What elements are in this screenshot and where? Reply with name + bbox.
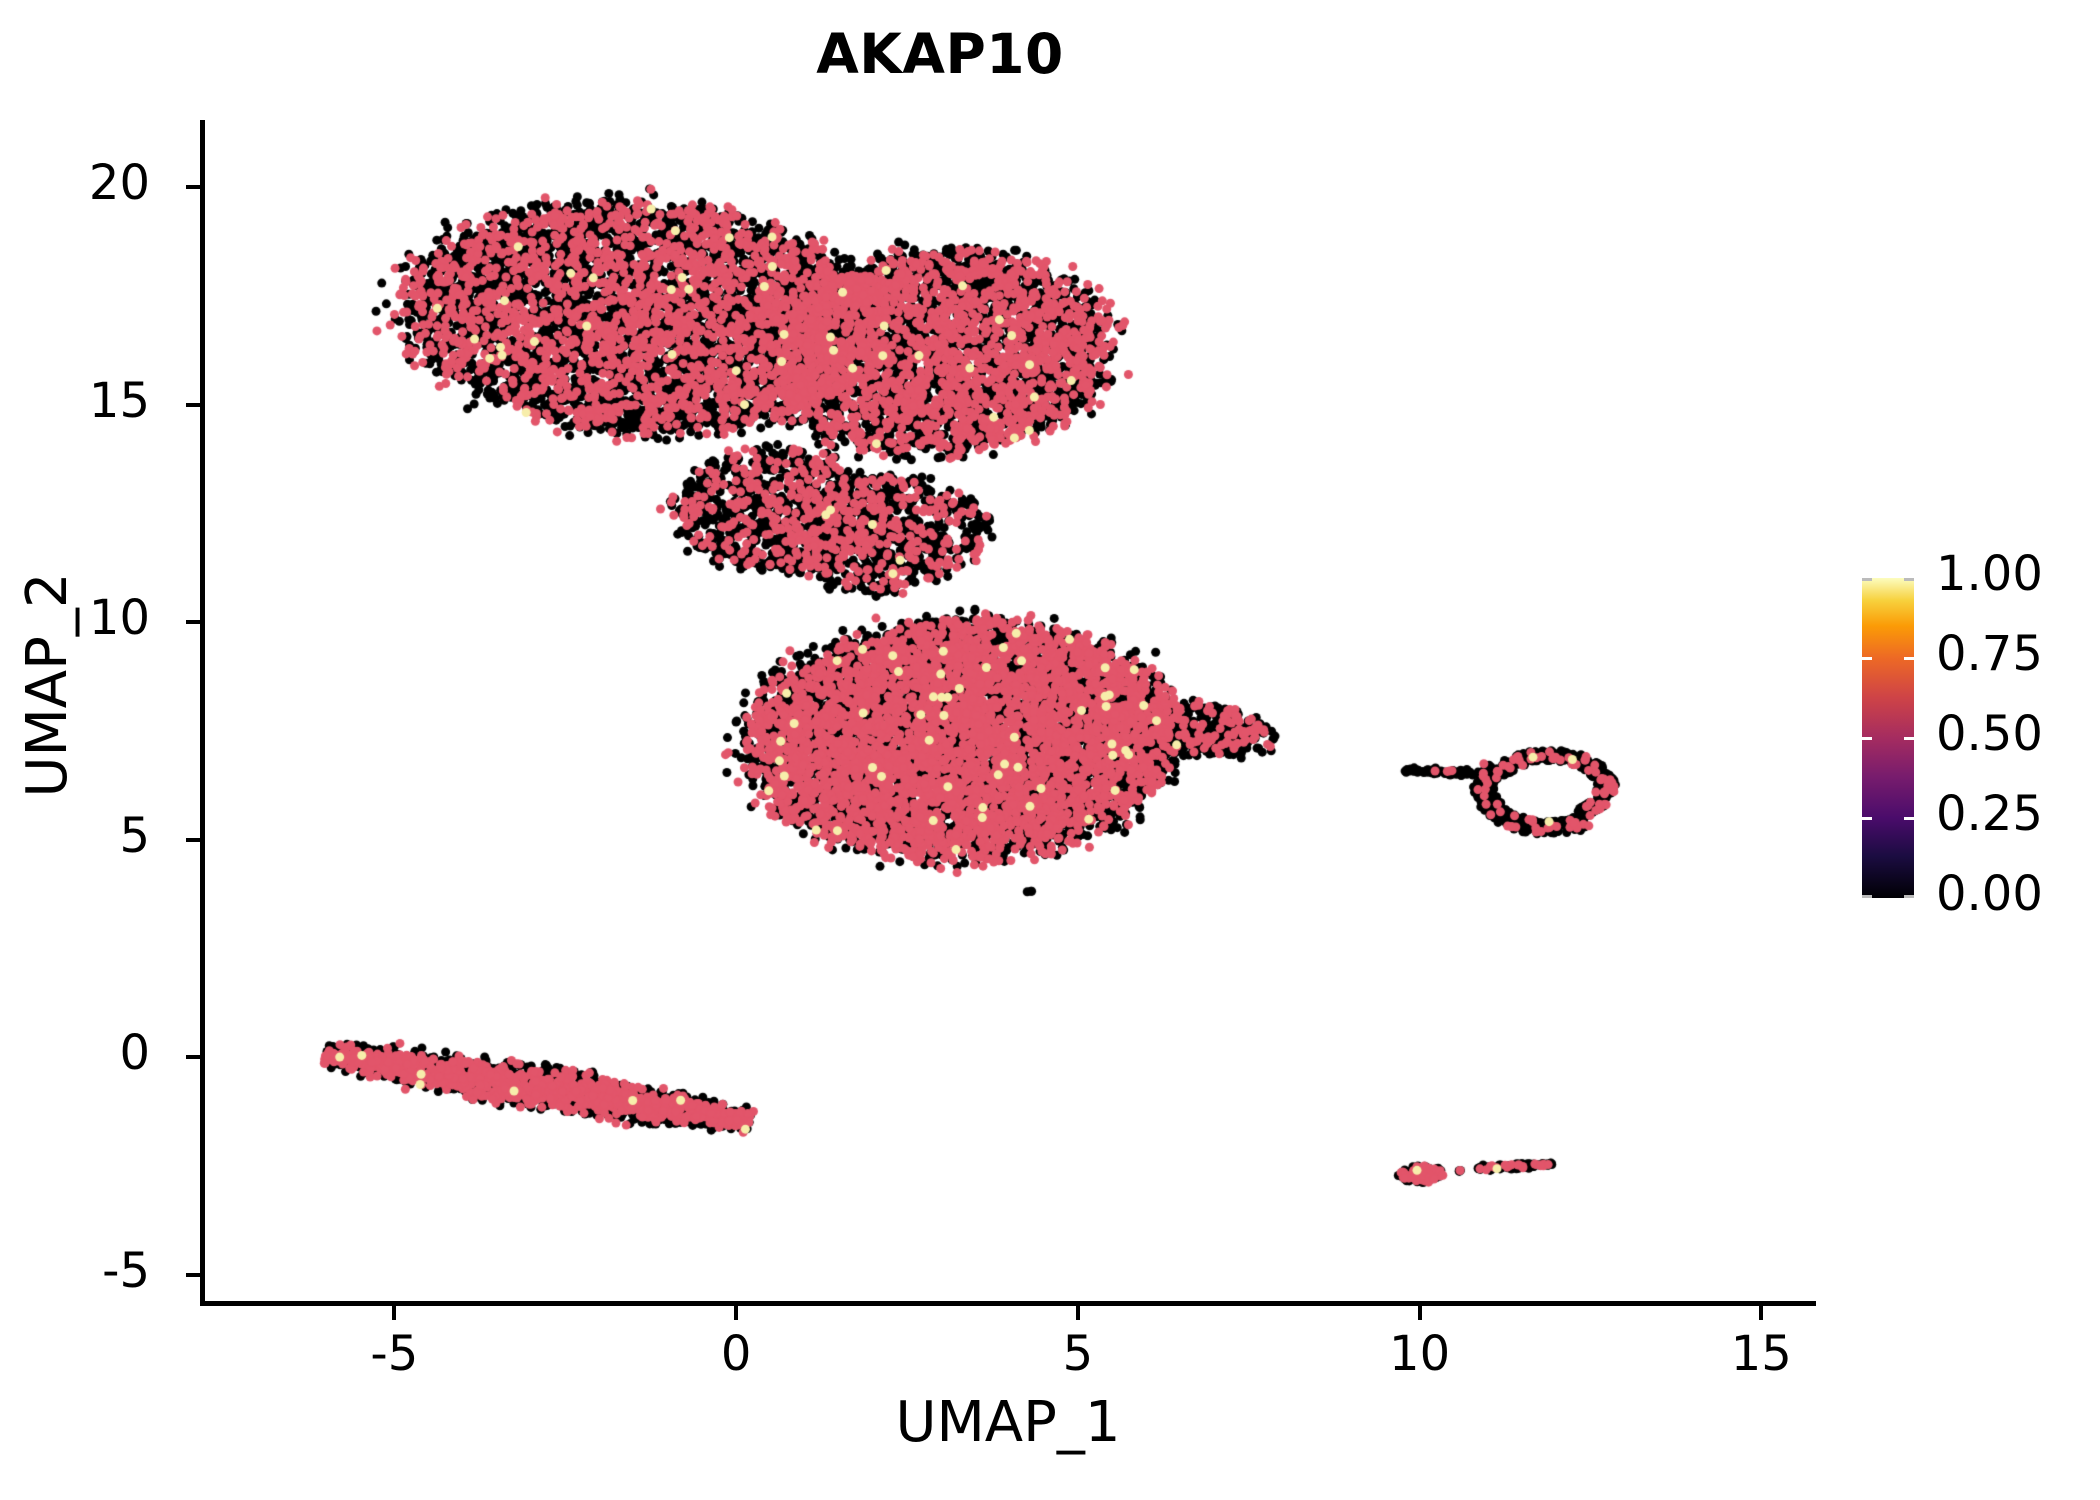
colorbar-tick-mark <box>1862 657 1872 660</box>
x-tick-mark <box>1759 1306 1763 1320</box>
y-axis-line <box>200 120 205 1306</box>
x-tick-label: 10 <box>1330 1326 1510 1382</box>
colorbar-tick-mark <box>1904 578 1914 581</box>
colorbar-tick-label: 0.25 <box>1936 786 2100 842</box>
x-tick-label: -5 <box>304 1326 484 1382</box>
y-axis-label: UMAP_2 <box>15 335 80 1035</box>
y-tick-mark <box>186 838 200 842</box>
x-tick-label: 15 <box>1671 1326 1851 1382</box>
colorbar-tick-label: 0.00 <box>1936 866 2100 922</box>
colorbar-tick-mark <box>1862 817 1872 820</box>
x-tick-mark <box>1418 1306 1422 1320</box>
colorbar-tick-label: 0.50 <box>1936 706 2100 762</box>
colorbar-tick-label: 0.75 <box>1936 626 2100 682</box>
scatter-canvas <box>0 0 2100 1500</box>
y-tick-mark <box>186 1273 200 1277</box>
x-tick-mark <box>734 1306 738 1320</box>
x-axis-label: UMAP_1 <box>200 1390 1816 1455</box>
umap-feature-plot: AKAP10 -505101520 -5051015 UMAP_1 UMAP_2… <box>0 0 2100 1500</box>
colorbar-tick-mark <box>1862 737 1872 740</box>
y-tick-label: 20 <box>0 155 150 211</box>
x-axis-line <box>200 1301 1816 1306</box>
y-tick-mark <box>186 620 200 624</box>
y-tick-mark <box>186 1055 200 1059</box>
y-tick-mark <box>186 185 200 189</box>
x-tick-mark <box>392 1306 396 1320</box>
y-tick-mark <box>186 403 200 407</box>
colorbar-tick-mark <box>1904 737 1914 740</box>
plot-area <box>0 0 2100 1500</box>
y-tick-label: -5 <box>0 1243 150 1299</box>
x-tick-mark <box>1076 1306 1080 1320</box>
colorbar-tick-label: 1.00 <box>1936 546 2100 602</box>
x-tick-label: 5 <box>988 1326 1168 1382</box>
colorbar-tick-mark <box>1862 578 1872 581</box>
x-tick-label: 0 <box>646 1326 826 1382</box>
colorbar-tick-mark <box>1904 895 1914 898</box>
colorbar-tick-mark <box>1904 817 1914 820</box>
colorbar-tick-mark <box>1862 895 1872 898</box>
colorbar-tick-mark <box>1904 657 1914 660</box>
